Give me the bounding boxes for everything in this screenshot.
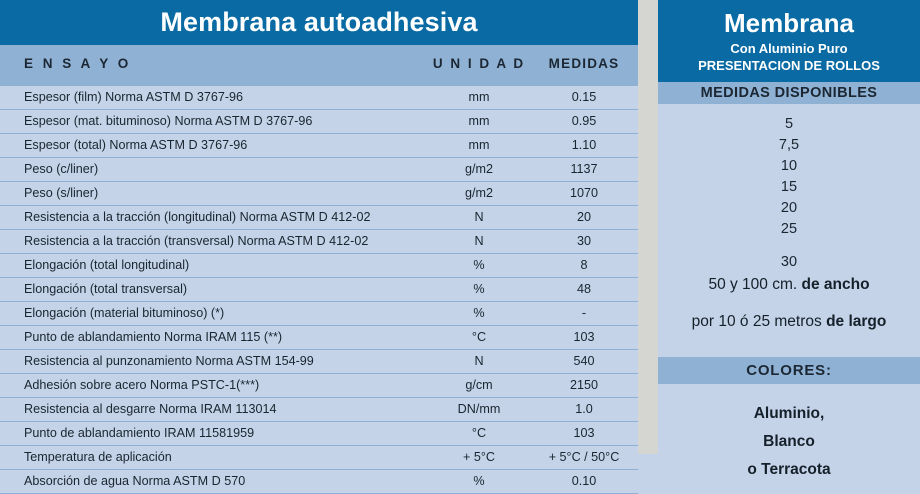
cell-ensayo: Resistencia al punzonamiento Norma ASTM …: [24, 350, 314, 373]
size-item: 30: [658, 252, 920, 273]
table-row: Resistencia al punzonamiento Norma ASTM …: [0, 349, 638, 373]
roll-width-line: 50 y 100 cm. de ancho: [658, 275, 920, 295]
cell-medidas: 20: [530, 206, 638, 229]
cell-unidad: g/m2: [424, 182, 534, 205]
spec-sheet-root: Membrana autoadhesiva E N S A Y O U N I …: [0, 0, 920, 454]
cell-medidas: 48: [530, 278, 638, 301]
page-title: Membrana autoadhesiva: [160, 7, 477, 38]
table-row: Temperatura de aplicación+ 5°C+ 5°C / 50…: [0, 445, 638, 469]
cell-medidas: 1.10: [530, 134, 638, 157]
table-row: Resistencia al desgarre Norma IRAM 11301…: [0, 397, 638, 421]
table-row: Absorción de agua Norma ASTM D 570%0.10: [0, 469, 638, 493]
color-item: Blanco: [658, 428, 920, 456]
cell-medidas: 0.95: [530, 110, 638, 133]
cell-ensayo: Elongación (total longitudinal): [24, 254, 189, 277]
cell-unidad: %: [424, 278, 534, 301]
cell-ensayo: Peso (s/liner): [24, 182, 98, 205]
cell-ensayo: Punto de ablandamiento Norma IRAM 115 (*…: [24, 326, 282, 349]
cell-ensayo: Espesor (film) Norma ASTM D 3767-96: [24, 86, 243, 109]
right-panel-subtitle-2: PRESENTACION DE ROLLOS: [658, 57, 920, 74]
cell-medidas: 8: [530, 254, 638, 277]
table-row: Punto de ablandamiento Norma IRAM 115 (*…: [0, 325, 638, 349]
cell-unidad: N: [424, 230, 534, 253]
membrana-aluminio-panel: Membrana Con Aluminio Puro PRESENTACION …: [658, 0, 920, 454]
cell-unidad: %: [424, 470, 534, 493]
table-row: Elongación (material bituminoso) (*)%-: [0, 301, 638, 325]
spec-table-body: Espesor (film) Norma ASTM D 3767-96mm0.1…: [0, 85, 638, 493]
left-panel-title-bar: Membrana autoadhesiva: [0, 0, 638, 45]
right-panel-subtitle-1: Con Aluminio Puro: [658, 40, 920, 57]
available-sizes-band: MEDIDAS DISPONIBLES: [658, 82, 920, 104]
size-item: 25: [658, 219, 920, 240]
right-panel-title-bar: Membrana Con Aluminio Puro PRESENTACION …: [658, 0, 920, 82]
cell-medidas: 103: [530, 326, 638, 349]
table-row: Elongación (total longitudinal)%8: [0, 253, 638, 277]
table-row: Peso (s/liner)g/m21070: [0, 181, 638, 205]
size-item: 15: [658, 177, 920, 198]
table-row: Elongación (total transversal)%48: [0, 277, 638, 301]
cell-unidad: %: [424, 302, 534, 325]
cell-ensayo: Punto de ablandamiento IRAM 11581959: [24, 422, 254, 445]
cell-unidad: N: [424, 350, 534, 373]
color-item: Aluminio,: [658, 400, 920, 428]
cell-unidad: N: [424, 206, 534, 229]
roll-length-line: por 10 ó 25 metros de largo: [658, 312, 920, 332]
roll-width-bold: de ancho: [802, 276, 870, 293]
column-header-medidas: MEDIDAS: [530, 56, 638, 71]
table-column-header: E N S A Y O U N I D A D MEDIDAS: [0, 45, 638, 85]
cell-ensayo: Espesor (mat. bituminoso) Norma ASTM D 3…: [24, 110, 312, 133]
table-row: Espesor (mat. bituminoso) Norma ASTM D 3…: [0, 109, 638, 133]
table-row: Adhesión sobre acero Norma PSTC-1(***)g/…: [0, 373, 638, 397]
cell-medidas: + 5°C / 50°C: [530, 446, 638, 469]
available-sizes-list: 57,51015202530: [658, 104, 920, 273]
table-row: Resistencia a la tracción (longitudinal)…: [0, 205, 638, 229]
cell-medidas: 30: [530, 230, 638, 253]
cell-medidas: 2150: [530, 374, 638, 397]
cell-ensayo: Elongación (total transversal): [24, 278, 187, 301]
size-item: 20: [658, 198, 920, 219]
right-panel-title: Membrana: [658, 2, 920, 40]
cell-medidas: 1137: [530, 158, 638, 181]
cell-ensayo: Resistencia a la tracción (transversal) …: [24, 230, 368, 253]
cell-medidas: 540: [530, 350, 638, 373]
cell-unidad: °C: [424, 422, 534, 445]
cell-medidas: 103: [530, 422, 638, 445]
column-header-unidad: U N I D A D: [424, 56, 534, 71]
table-row: Resistencia a la tracción (transversal) …: [0, 229, 638, 253]
cell-unidad: + 5°C: [424, 446, 534, 469]
cell-unidad: %: [424, 254, 534, 277]
colors-band: COLORES:: [658, 357, 920, 384]
cell-unidad: °C: [424, 326, 534, 349]
cell-ensayo: Resistencia al desgarre Norma IRAM 11301…: [24, 398, 276, 421]
cell-medidas: 1070: [530, 182, 638, 205]
roll-length-bold: de largo: [826, 313, 886, 330]
cell-unidad: DN/mm: [424, 398, 534, 421]
colors-list: Aluminio,Blancoo Terracota: [658, 384, 920, 484]
cell-medidas: 0.10: [530, 470, 638, 493]
size-item: 10: [658, 156, 920, 177]
membrana-autoadhesiva-panel: Membrana autoadhesiva E N S A Y O U N I …: [0, 0, 638, 454]
table-row: Espesor (film) Norma ASTM D 3767-96mm0.1…: [0, 85, 638, 109]
cell-ensayo: Adhesión sobre acero Norma PSTC-1(***): [24, 374, 259, 397]
cell-unidad: mm: [424, 110, 534, 133]
cell-unidad: g/m2: [424, 158, 534, 181]
cell-unidad: mm: [424, 86, 534, 109]
cell-ensayo: Absorción de agua Norma ASTM D 570: [24, 470, 245, 493]
cell-ensayo: Temperatura de aplicación: [24, 446, 172, 469]
column-header-ensayo: E N S A Y O: [24, 56, 131, 71]
cell-ensayo: Elongación (material bituminoso) (*): [24, 302, 224, 325]
cell-medidas: 1.0: [530, 398, 638, 421]
cell-medidas: -: [530, 302, 638, 325]
panel-divider: [638, 0, 658, 454]
color-item: o Terracota: [658, 456, 920, 484]
cell-ensayo: Peso (c/liner): [24, 158, 98, 181]
roll-length-plain: por 10 ó 25 metros: [692, 313, 826, 330]
size-item: 5: [658, 114, 920, 135]
cell-unidad: mm: [424, 134, 534, 157]
cell-unidad: g/cm: [424, 374, 534, 397]
table-row: Punto de ablandamiento IRAM 11581959°C10…: [0, 421, 638, 445]
roll-width-plain: 50 y 100 cm.: [708, 276, 801, 293]
table-row: Peso (c/liner)g/m21137: [0, 157, 638, 181]
cell-medidas: 0.15: [530, 86, 638, 109]
cell-ensayo: Resistencia a la tracción (longitudinal)…: [24, 206, 370, 229]
cell-ensayo: Espesor (total) Norma ASTM D 3767-96: [24, 134, 247, 157]
size-item: 7,5: [658, 135, 920, 156]
table-row: Espesor (total) Norma ASTM D 3767-96mm1.…: [0, 133, 638, 157]
